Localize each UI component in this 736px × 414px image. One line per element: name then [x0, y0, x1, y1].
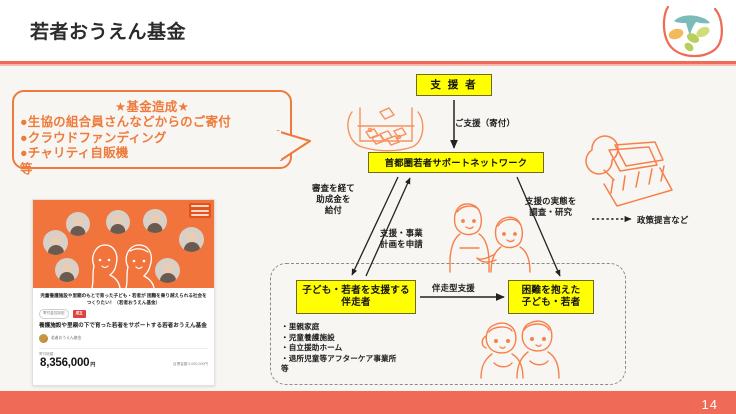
list-item: ・自立援助ホーム: [281, 343, 396, 354]
slide: 若者おうえん基金 ★基金造成★ ●生協の組合員さんなどからのご寄付 ●クラウドフ…: [0, 0, 736, 414]
avatar: [43, 230, 68, 255]
amount-row: 8,356,000円 目標金額 5,000,000円: [33, 357, 214, 369]
card-headline: 養護施設や里親の下で育った若者をサポートする若者おうえん基金: [33, 319, 214, 330]
slide-footer: 14: [0, 391, 736, 414]
two-people-talking-illustration: [450, 204, 530, 272]
label-accompanying-support: 伴走型支援: [432, 283, 475, 294]
bubble-item-1: ●生協の組合員さんなどからのご寄付: [14, 115, 290, 131]
avatar: [55, 258, 79, 282]
bubble-title: ★基金造成★: [14, 96, 290, 115]
card-organization: 若者おうえん基金: [33, 330, 214, 343]
header-divider-light: [0, 64, 736, 66]
card-hero-caption: 児童養護施設や里親のもとで育った子ども・若者が 困難を乗り越えられる社会をつくり…: [33, 288, 214, 306]
card-hero-image: [33, 200, 214, 288]
magnifier-documents-illustration: [586, 136, 672, 206]
donation-total: 8,356,000円: [39, 357, 95, 369]
avatar: [179, 227, 204, 252]
label-research: 支援の実態を 調査・研究: [525, 196, 576, 218]
tag-tax-deduction: 寄付金控除型: [39, 309, 69, 319]
label-grant: 審査を経て 助成金を 給付: [312, 183, 355, 217]
avatar: [143, 209, 167, 233]
page-title: 若者おうえん基金: [30, 17, 186, 44]
org-avatar-icon: [39, 334, 48, 343]
avatar: [66, 212, 90, 236]
bird-leaf-logo: [660, 4, 726, 58]
bubble-tail: [277, 129, 313, 163]
label-policy-proposal: 政策提言など: [637, 215, 688, 226]
card-tags: 寄付金控除型 成立: [33, 306, 214, 319]
two-people-doodle-icon: [88, 240, 158, 288]
bubble-item-2: ●クラウドファンディング: [14, 131, 290, 147]
bubble-item-3: ●チャリティ自販機: [14, 146, 290, 162]
tag-completed: 成立: [73, 310, 86, 318]
org-name: 若者おうえん基金: [51, 336, 81, 341]
avatar: [155, 258, 180, 283]
list-item: 等: [281, 364, 396, 375]
label-donation: ご支援（寄付）: [455, 118, 515, 129]
slide-header: 若者おうえん基金: [0, 0, 736, 61]
bubble-item-4: 等: [14, 162, 290, 178]
box-supporter: 支 援 者: [416, 74, 492, 96]
label-apply: 支援・事業 計画を申請: [380, 228, 423, 250]
donation-box-illustration: [348, 108, 423, 151]
list-item: ・里親家庭: [281, 322, 396, 333]
box-youth-in-need: 困難を抱えた 子ども・若者: [508, 280, 594, 314]
list-item: ・児童養護施設: [281, 333, 396, 344]
amount-label: 寄付総額: [33, 349, 214, 357]
hero-badge-icon: [189, 203, 211, 218]
avatar: [106, 210, 130, 234]
box-mentor: 子ども・若者を支援する 伴走者: [296, 280, 416, 314]
page-number: 14: [702, 397, 718, 412]
crowdfunding-card[interactable]: 児童養護施設や里親のもとで育った子ども・若者が 困難を乗り越えられる社会をつくり…: [32, 199, 215, 386]
goal-amount: 目標金額 5,000,000円: [173, 362, 208, 369]
mentor-types-list: ・里親家庭 ・児童養護施設 ・自立援助ホーム ・退所児童等アフターケア事業所 等: [281, 322, 396, 375]
fund-sources-bubble: ★基金造成★ ●生協の組合員さんなどからのご寄付 ●クラウドファンディング ●チ…: [12, 90, 292, 169]
box-support-network: 首都圏若者サポートネットワーク: [368, 152, 544, 173]
list-item: ・退所児童等アフターケア事業所: [281, 354, 396, 365]
